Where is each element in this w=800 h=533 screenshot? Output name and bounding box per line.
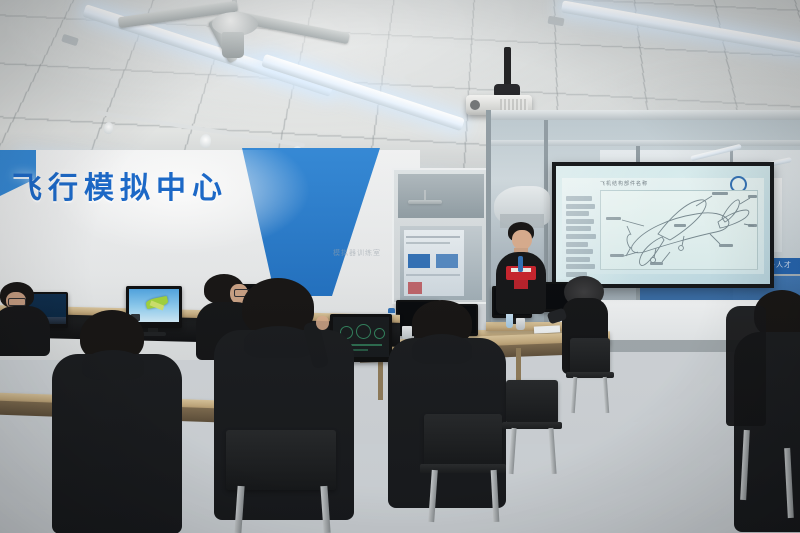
ceiling-fan-motor	[222, 32, 244, 58]
chair-leg	[548, 428, 556, 474]
student-torso	[726, 306, 766, 426]
poster-line	[406, 274, 460, 276]
sim-gauge	[356, 324, 371, 339]
ceiling-beam	[486, 140, 800, 146]
glass-mullion	[486, 110, 491, 340]
bottle-cap	[388, 308, 395, 313]
poster-block	[436, 254, 458, 268]
eyeglasses	[8, 298, 26, 306]
poster-line	[406, 242, 450, 244]
student-jacket	[52, 354, 182, 533]
chair-back[interactable]	[226, 430, 336, 490]
wall-small-label: 模拟器训练室	[333, 248, 395, 259]
jacket-hood	[82, 350, 144, 380]
jacket-hood	[412, 334, 472, 364]
wall-sign-text: 飞行模拟中心	[12, 163, 222, 215]
door-transom-glass	[398, 174, 484, 218]
projector-mount-pole	[504, 47, 511, 89]
chair-back[interactable]	[570, 338, 610, 374]
screen-glare	[556, 166, 770, 284]
jacket-graphic-red	[514, 280, 528, 289]
poster-block	[408, 254, 430, 268]
lanyard	[518, 256, 523, 272]
chair-back[interactable]	[506, 380, 558, 424]
classroom-photo: 飞行模拟中心 模拟器训练室 民航运输与航空服务人才 飞机结构部件名称 民航	[0, 0, 800, 533]
projector-lens	[470, 100, 480, 110]
paper-cup	[402, 326, 412, 339]
chair-back[interactable]	[424, 414, 502, 466]
student-jacket	[214, 330, 354, 520]
poster-block	[408, 282, 422, 294]
ceiling-fan-rod	[424, 190, 426, 200]
sim-gauge	[374, 328, 385, 339]
paper-cup	[516, 318, 525, 330]
chair-leg	[603, 377, 610, 413]
chair-leg	[508, 428, 516, 474]
student-torso	[0, 306, 50, 356]
fan-blade	[408, 200, 442, 204]
chair-leg	[571, 377, 578, 413]
desk-leg	[378, 356, 383, 400]
poster-line	[406, 236, 460, 238]
instructor-face	[512, 230, 532, 250]
ceiling-beam	[486, 110, 800, 120]
student-hand	[316, 316, 329, 330]
